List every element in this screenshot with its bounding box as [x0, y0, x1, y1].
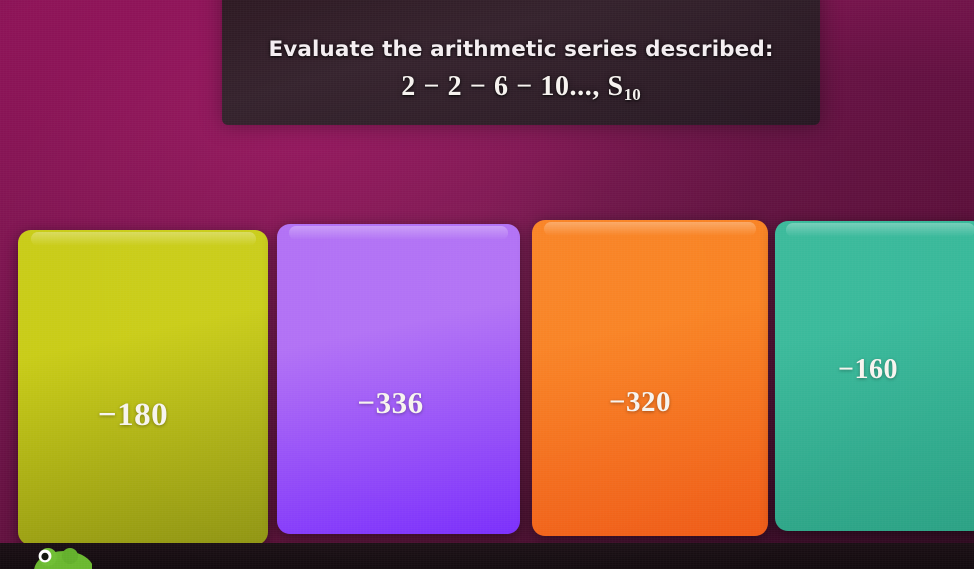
- answer-option-180[interactable]: −180: [18, 230, 268, 545]
- answer-option-336[interactable]: −336: [277, 224, 520, 534]
- answer-option-160[interactable]: −160: [775, 221, 974, 531]
- answer-option-label: −160: [838, 354, 898, 386]
- card-gloss-highlight: [544, 222, 756, 236]
- answer-option-320[interactable]: −320: [532, 220, 768, 536]
- answer-option-label: −336: [357, 385, 423, 421]
- answer-option-label: −320: [609, 386, 671, 419]
- card-gloss-highlight: [786, 223, 974, 237]
- frog-mascot-icon: [30, 545, 92, 569]
- bottom-bar: [0, 543, 974, 569]
- answer-options-row: −180 −336 −320 −160: [0, 0, 974, 569]
- card-gloss-highlight: [31, 232, 256, 246]
- frog-mascot-svg: [30, 545, 92, 569]
- quiz-screen: Evaluate the arithmetic series described…: [0, 0, 974, 569]
- answer-option-label: −180: [98, 397, 168, 434]
- card-gloss-highlight: [289, 226, 508, 240]
